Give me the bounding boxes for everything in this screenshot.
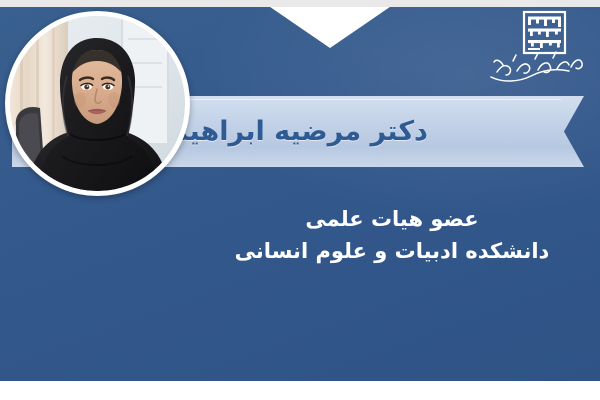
university-logo <box>483 9 588 87</box>
portrait-photo <box>10 16 185 191</box>
faculty-department: دانشکده ادبیات و علوم انسانی <box>196 236 588 266</box>
top-strip <box>0 0 600 7</box>
faculty-title-block: عضو هیات علمی دانشکده ادبیات و علوم انسا… <box>196 204 588 267</box>
faculty-position: عضو هیات علمی <box>196 204 588 234</box>
portrait-ring <box>5 11 190 196</box>
faculty-profile-card: دکتر مرضیه ابراهیمی عضو هیات علمی دانشکد… <box>0 0 600 400</box>
